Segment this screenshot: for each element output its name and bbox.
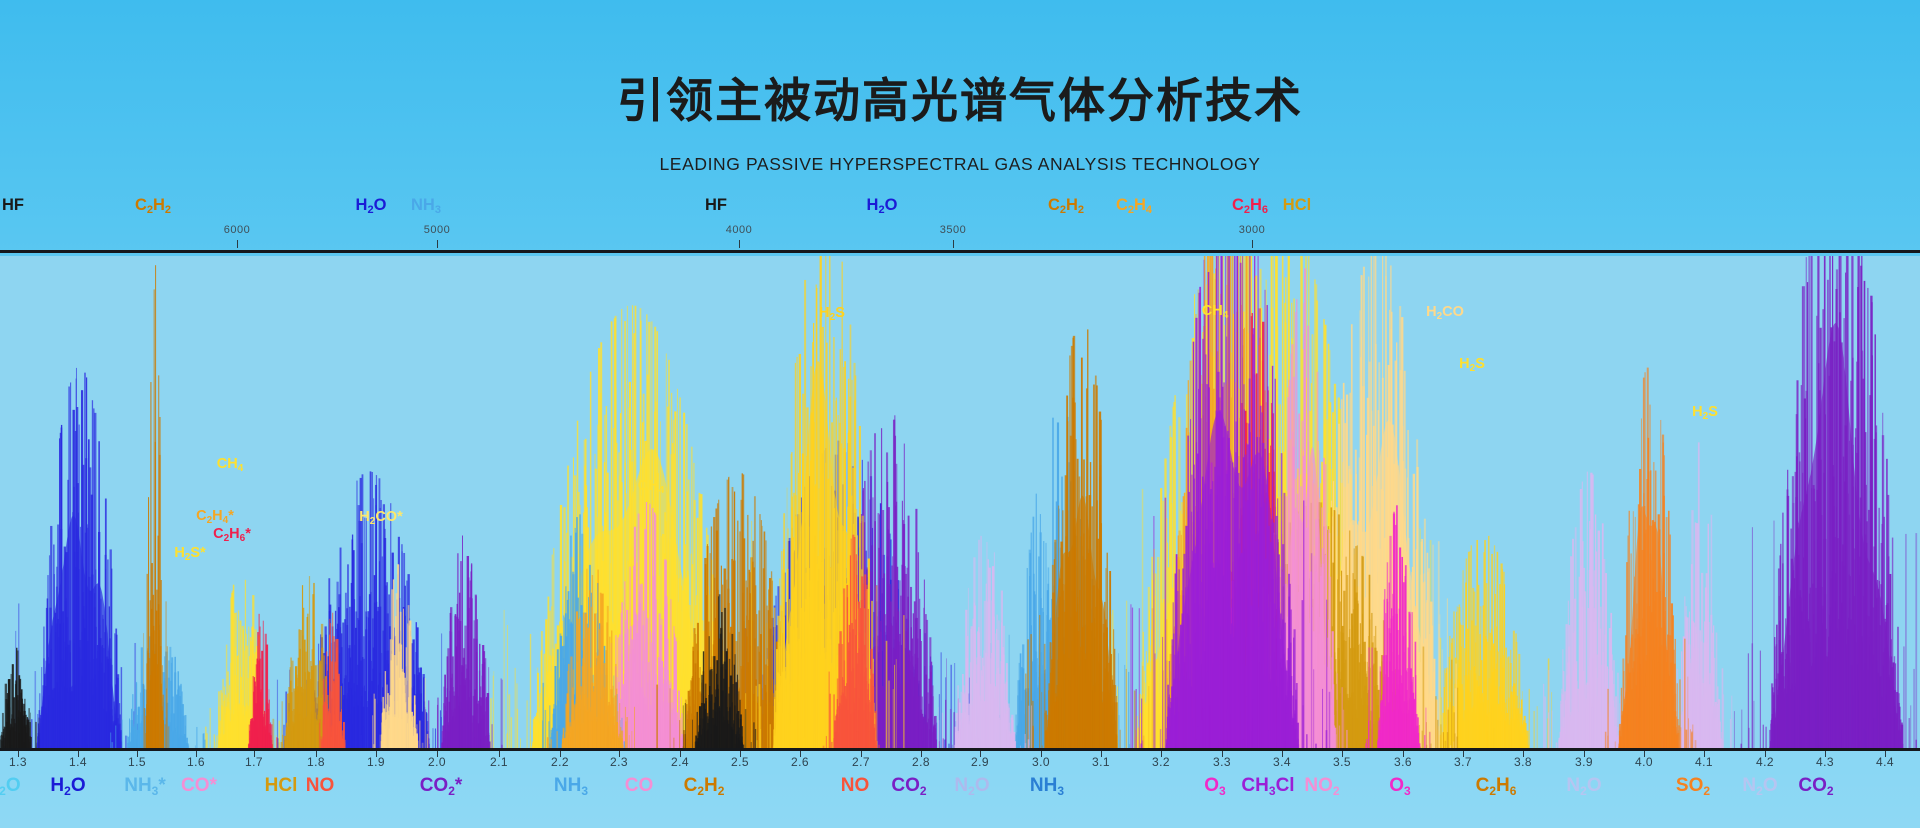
bottom-molecule-label: CO [625, 775, 654, 797]
top-molecule-label: H2O [867, 196, 898, 215]
bottom-axis-tick-label: 2.3 [610, 755, 628, 769]
bottom-molecule-label: NH3 [1030, 775, 1064, 797]
bottom-molecule-label: H2O [0, 775, 21, 797]
top-axis-tick-mark [953, 240, 954, 248]
bottom-molecule-label: O3 [1389, 775, 1410, 797]
top-axis-tick-mark [739, 240, 740, 248]
bottom-axis-tick-mark [196, 751, 197, 757]
spectrum-canvas [0, 256, 1920, 748]
bottom-axis-tick-mark [254, 751, 255, 757]
bottom-axis-tick-mark [921, 751, 922, 757]
bottom-axis-tick-label: 3.0 [1032, 755, 1050, 769]
bottom-molecule-label: NO [306, 775, 335, 797]
bottom-axis-tick-mark [560, 751, 561, 757]
bottom-molecule-label: NH3 [554, 775, 588, 797]
top-axis-line [0, 250, 1920, 253]
bottom-axis-tick-mark [499, 751, 500, 757]
bottom-axis-tick-mark [137, 751, 138, 757]
bottom-axis-tick-mark [1463, 751, 1464, 757]
top-axis-tick-label: 6000 [224, 224, 250, 236]
bottom-axis-tick-label: 2.8 [912, 755, 930, 769]
bottom-axis-band: 1.31.41.51.61.71.81.92.02.12.22.32.42.52… [0, 751, 1920, 828]
top-molecule-label: H2O [356, 196, 387, 215]
bottom-axis-tick-mark [1765, 751, 1766, 757]
top-molecule-label: C2H6 [1232, 196, 1268, 215]
bottom-axis-tick-mark [78, 751, 79, 757]
bottom-axis-tick-label: 3.5 [1333, 755, 1351, 769]
top-molecule-label: NH3 [411, 196, 441, 215]
bottom-axis-tick-mark [376, 751, 377, 757]
bottom-axis-tick-mark [1523, 751, 1524, 757]
bottom-axis-tick-mark [1704, 751, 1705, 757]
bottom-molecule-label: NO2 [1304, 775, 1339, 797]
spectral-poster: 引领主被动高光谱气体分析技术 LEADING PASSIVE HYPERSPEC… [0, 0, 1920, 828]
bottom-molecule-label: HCl [265, 775, 298, 797]
bottom-axis-tick-mark [980, 751, 981, 757]
top-molecule-label: C2H2 [1048, 196, 1084, 215]
bottom-axis-tick-label: 2.9 [971, 755, 989, 769]
bottom-axis-tick-mark [1342, 751, 1343, 757]
bottom-molecule-label: C2H6 [1476, 775, 1517, 797]
bottom-axis-tick-label: 2.2 [551, 755, 569, 769]
top-molecule-label: C2H4 [1116, 196, 1152, 215]
bottom-axis-tick-label: 2.5 [731, 755, 749, 769]
page-title: 引领主被动高光谱气体分析技术 [0, 62, 1920, 131]
bottom-axis-tick-mark [1101, 751, 1102, 757]
bottom-axis-tick-mark [1584, 751, 1585, 757]
top-molecule-label: HCl [1283, 196, 1311, 215]
bottom-axis-tick-label: 1.7 [245, 755, 263, 769]
bottom-axis-tick-label: 3.9 [1575, 755, 1593, 769]
bottom-axis-tick-label: 2.0 [428, 755, 446, 769]
bottom-axis-tick-mark [437, 751, 438, 757]
bottom-axis-tick-mark [1222, 751, 1223, 757]
bottom-molecule-label: CO2 [891, 775, 926, 797]
bottom-axis-tick-label: 4.0 [1635, 755, 1653, 769]
bottom-axis-tick-label: 2.1 [490, 755, 508, 769]
bottom-axis-tick-label: 2.7 [852, 755, 870, 769]
bottom-axis-tick-label: 2.4 [671, 755, 689, 769]
bottom-axis-tick-label: 3.4 [1273, 755, 1291, 769]
bottom-axis-tick-label: 4.2 [1756, 755, 1774, 769]
bottom-axis-tick-mark [861, 751, 862, 757]
bottom-molecule-label: O3 [1204, 775, 1225, 797]
bottom-axis-tick-label: 2.6 [791, 755, 809, 769]
bottom-molecule-label: SO2 [1676, 775, 1710, 797]
bottom-axis-tick-label: 4.1 [1695, 755, 1713, 769]
bottom-axis-tick-label: 4.4 [1876, 755, 1894, 769]
bottom-molecule-label: N2O [1742, 775, 1777, 797]
bottom-axis-tick-label: 1.4 [69, 755, 87, 769]
bottom-molecule-label: C2H2 [684, 775, 725, 797]
bottom-molecule-label: H2O [50, 775, 85, 797]
bottom-molecule-label: CH3Cl [1241, 775, 1294, 797]
page-subtitle: LEADING PASSIVE HYPERSPECTRAL GAS ANALYS… [0, 154, 1920, 175]
bottom-axis-tick-mark [680, 751, 681, 757]
bottom-axis-tick-label: 3.2 [1152, 755, 1170, 769]
bottom-molecule-label: NH3* [124, 775, 166, 797]
top-axis-tick-label: 4000 [726, 224, 752, 236]
bottom-axis-tick-label: 1.6 [187, 755, 205, 769]
bottom-axis-tick-mark [1644, 751, 1645, 757]
bottom-axis-tick-label: 1.3 [9, 755, 27, 769]
bottom-axis-tick-mark [18, 751, 19, 757]
bottom-molecule-label: N2O [1566, 775, 1601, 797]
bottom-axis-tick-mark [316, 751, 317, 757]
top-axis-tick-mark [237, 240, 238, 248]
bottom-axis-tick-mark [1041, 751, 1042, 757]
bottom-axis-tick-label: 3.8 [1514, 755, 1532, 769]
bottom-molecule-label: N2O [954, 775, 989, 797]
top-axis-band: HFC2H2H2ONH3HFH2OC2H2C2H4C2H6HCl60005000… [0, 196, 1920, 248]
bottom-axis-tick-label: 3.6 [1394, 755, 1412, 769]
bottom-axis-tick-mark [1403, 751, 1404, 757]
bottom-molecule-label: CO* [181, 775, 217, 797]
top-axis-tick-mark [437, 240, 438, 248]
bottom-axis-tick-mark [1885, 751, 1886, 757]
spectrum-plot: CH4C2H4*C2H6*H2S*H2CO*CH4H2SCH4H2COH2SH2… [0, 256, 1920, 748]
bottom-axis-tick-mark [1282, 751, 1283, 757]
top-molecule-label: HF [705, 196, 727, 215]
bottom-axis-tick-label: 1.9 [367, 755, 385, 769]
bottom-axis-tick-mark [619, 751, 620, 757]
bottom-axis-tick-label: 1.5 [128, 755, 146, 769]
bottom-axis-tick-label: 3.7 [1454, 755, 1472, 769]
bottom-axis-tick-mark [1161, 751, 1162, 757]
top-axis-tick-label: 3000 [1239, 224, 1265, 236]
top-molecule-label: C2H2 [135, 196, 171, 215]
bottom-molecule-label: NO [841, 775, 870, 797]
bottom-axis-tick-label: 3.1 [1092, 755, 1110, 769]
bottom-molecule-label: CO2* [420, 775, 463, 797]
bottom-axis-tick-mark [800, 751, 801, 757]
top-axis-tick-mark [1252, 240, 1253, 248]
top-axis-tick-label: 5000 [424, 224, 450, 236]
top-axis-tick-label: 3500 [940, 224, 966, 236]
bottom-axis-tick-mark [740, 751, 741, 757]
bottom-axis-tick-label: 3.3 [1213, 755, 1231, 769]
bottom-axis-tick-mark [1825, 751, 1826, 757]
bottom-axis-tick-label: 4.3 [1816, 755, 1834, 769]
bottom-molecule-label: CO2 [1798, 775, 1833, 797]
top-molecule-label: HF [2, 196, 24, 215]
bottom-axis-tick-label: 1.8 [307, 755, 325, 769]
